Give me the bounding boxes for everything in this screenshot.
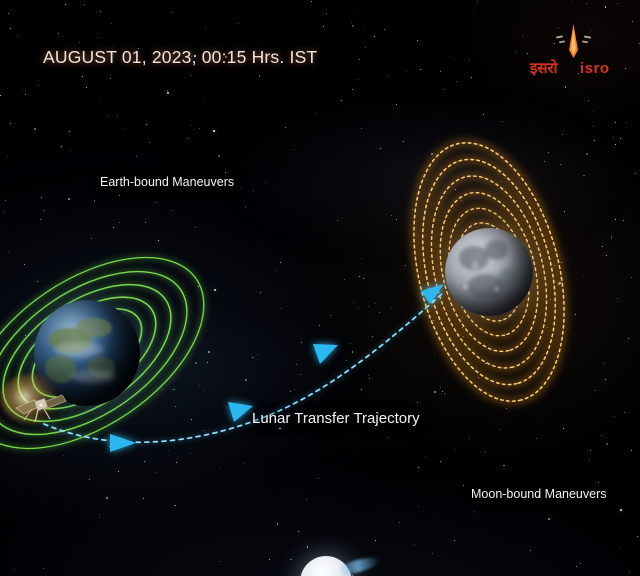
mission-timestamp: AUGUST 01, 2023, 00:15 Hrs. IST (43, 47, 317, 68)
earth-bound-maneuvers-label: Earth-bound Maneuvers (100, 175, 234, 189)
isro-devanagari-text: इसरो (529, 59, 559, 77)
isro-logo: इसरो isro (526, 22, 622, 80)
isro-latin-text: isro (580, 60, 610, 77)
moon-bound-maneuvers-label: Moon-bound Maneuvers (471, 487, 607, 501)
spacecraft-icon (8, 378, 70, 430)
lunar-transfer-trajectory-label: Lunar Transfer Trajectory (252, 410, 420, 427)
mission-trajectory-graphic: AUGUST 01, 2023, 00:15 Hrs. IST इसरो isr… (0, 0, 640, 576)
moon-terminator (445, 228, 533, 316)
moon-globe (445, 228, 533, 316)
